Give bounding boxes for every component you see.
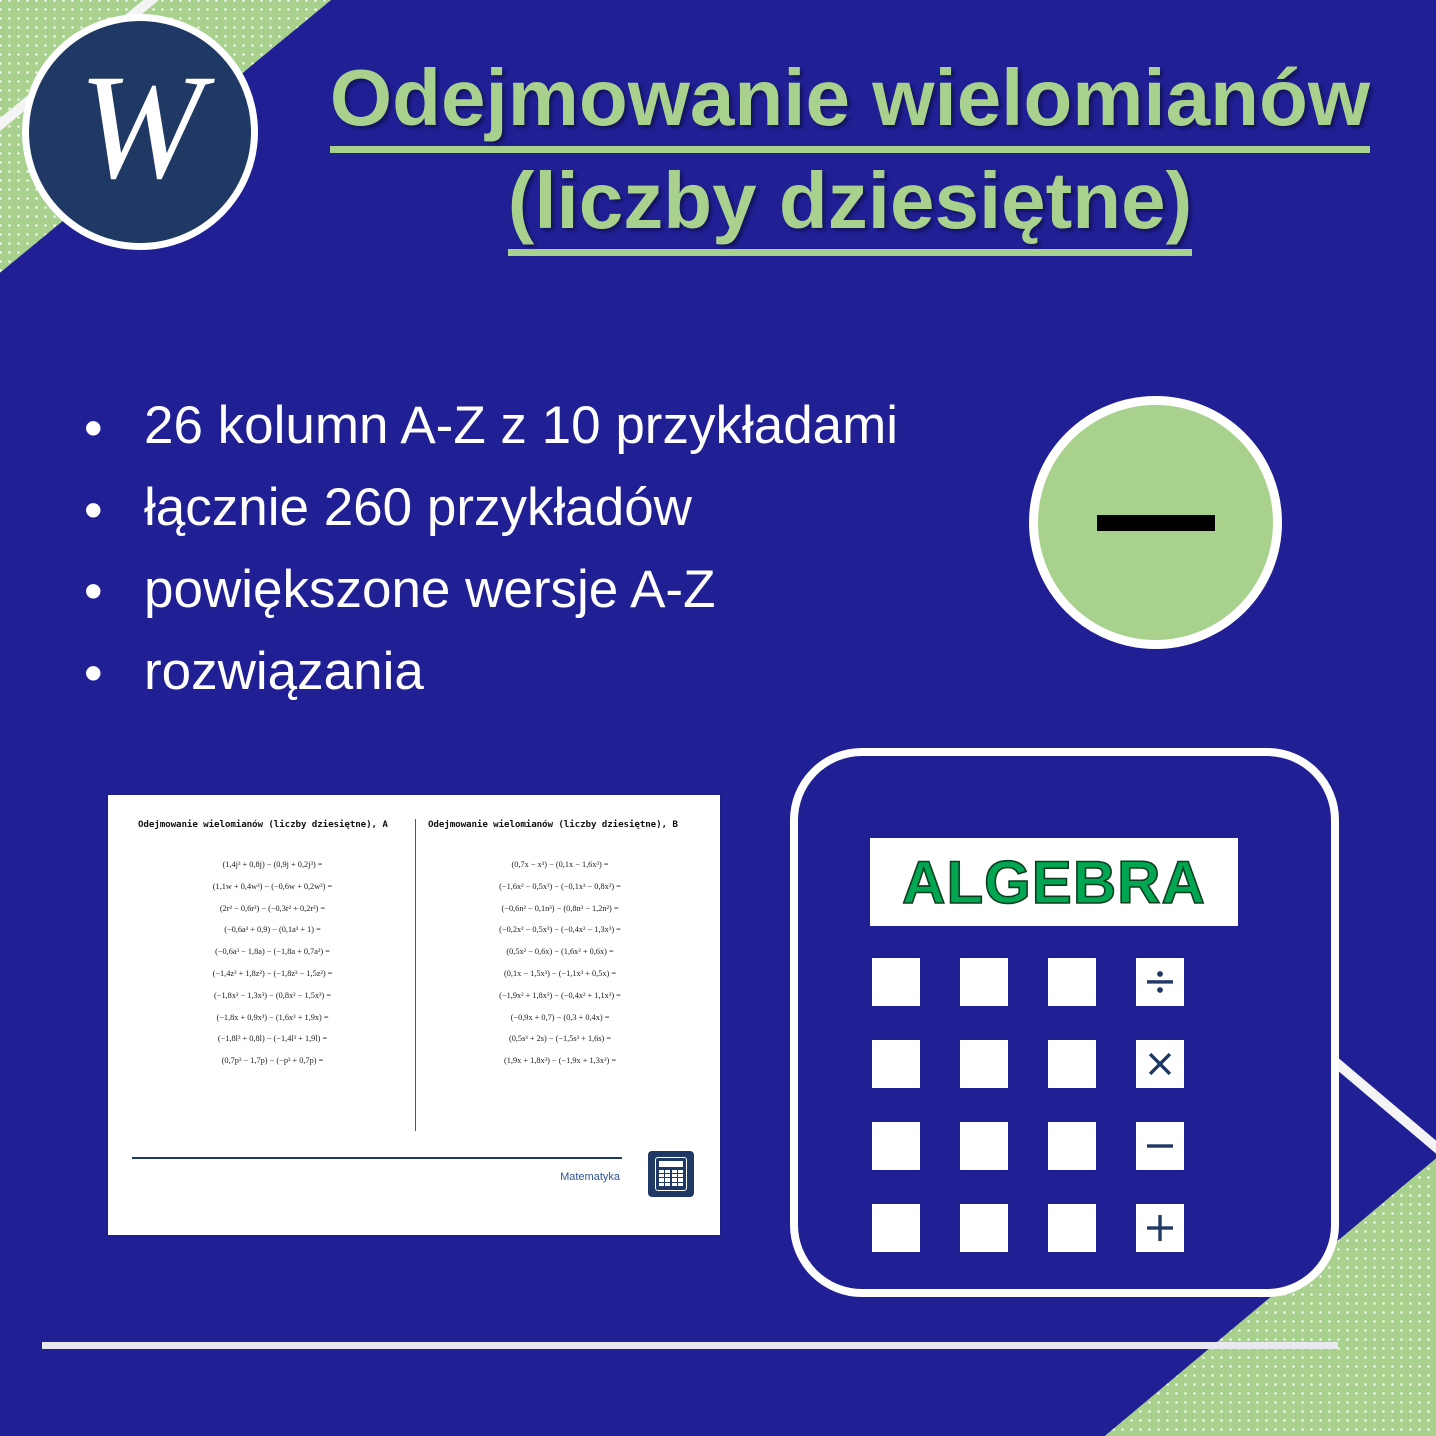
worksheet-equation: (0,5x² − 0,6x) − (1,6x² + 0,6x) = bbox=[428, 947, 692, 956]
calculator-blank-key bbox=[1048, 1040, 1096, 1088]
worksheet-column-a: Odejmowanie wielomianów (liczby dziesięt… bbox=[130, 819, 415, 1131]
worksheet-equation: (0,1x − 1,5x³) − (−1,1x³ + 0,5x) = bbox=[428, 969, 692, 978]
worksheet-footer-label: Matematyka bbox=[560, 1171, 620, 1183]
worksheet-equation: (−1,9x² + 1,8x³) − (−0,4x² + 1,1x³) = bbox=[428, 991, 692, 1000]
calculator-blank-key bbox=[1048, 1204, 1096, 1252]
brand-logo: W bbox=[22, 14, 258, 250]
list-item-label: łącznie 260 przykładów bbox=[144, 478, 692, 537]
calculator-blank-key bbox=[872, 1040, 920, 1088]
list-item-label: rozwiązania bbox=[144, 642, 424, 701]
list-item: • 26 kolumn A-Z z 10 przykładami bbox=[72, 392, 902, 461]
calculator-graphic: ALGEBRA bbox=[790, 748, 1339, 1297]
worksheet-footer: Matematyka bbox=[130, 1149, 700, 1203]
worksheet-equation: (0,5s³ + 2s) − (−1,5s³ + 1,6s) = bbox=[428, 1034, 692, 1043]
calculator-blank-key bbox=[872, 958, 920, 1006]
calculator-blank-key bbox=[872, 1122, 920, 1170]
worksheet-equation: (−0,2x² − 0,5x³) − (−0,4x² − 1,3x³) = bbox=[428, 925, 692, 934]
worksheet-preview: Odejmowanie wielomianów (liczby dziesięt… bbox=[108, 795, 720, 1235]
feature-list: • 26 kolumn A-Z z 10 przykładami • łączn… bbox=[72, 392, 902, 720]
calculator-blank-key bbox=[872, 1204, 920, 1252]
worksheet-equation: (1,4j³ + 0,8j) − (0,9j + 0,2j³) = bbox=[138, 860, 407, 869]
worksheet-equation: (2r² − 0,6r³) − (−0,3r² + 0,2r³) = bbox=[138, 904, 407, 913]
logo-letter: W bbox=[79, 52, 202, 202]
minus-icon bbox=[1097, 515, 1215, 531]
worksheet-equation: (0,7p³ − 1,7p) − (−p³ + 0,7p) = bbox=[138, 1056, 407, 1065]
worksheet-column-b-title: Odejmowanie wielomianów (liczby dziesięt… bbox=[428, 819, 692, 830]
worksheet-equation: (−1,4z³ + 1,8z²) − (−1,8z³ − 1,5z²) = bbox=[138, 969, 407, 978]
list-item: • łącznie 260 przykładów bbox=[72, 474, 902, 543]
calculator-display: ALGEBRA bbox=[870, 838, 1238, 926]
calculator-blank-key bbox=[960, 1204, 1008, 1252]
bullet-marker: • bbox=[84, 477, 103, 546]
worksheet-equation: (−0,6n² − 0,1n³) − (0,8n³ − 1,2n²) = bbox=[428, 904, 692, 913]
calculator-blank-key bbox=[960, 1122, 1008, 1170]
worksheet-equation: (−1,8x² − 1,3x³) − (0,8x² − 1,5x³) = bbox=[138, 991, 407, 1000]
bottom-divider bbox=[42, 1342, 1338, 1349]
calculator-blank-key bbox=[1048, 958, 1096, 1006]
bullet-marker: • bbox=[84, 640, 103, 709]
worksheet-equation: (1,1w + 0,4w³) − (−0,6w + 0,2w³) = bbox=[138, 882, 407, 891]
calculator-icon bbox=[648, 1151, 694, 1197]
calculator-blank-key bbox=[960, 1040, 1008, 1088]
bullet-marker: • bbox=[84, 395, 103, 464]
worksheet-equation: (1,9x + 1,8x³) − (−1,9x + 1,3x³) = bbox=[428, 1056, 692, 1065]
calculator-blank-key bbox=[1048, 1122, 1096, 1170]
worksheet-equation: (−1,6x² − 0,5x³) − (−0,1x³ − 0,8x²) = bbox=[428, 882, 692, 891]
list-item-label: powiększone wersje A-Z bbox=[144, 560, 715, 619]
worksheet-equation: (−0,6a³ + 0,9) − (0,1a³ + 1) = bbox=[138, 925, 407, 934]
calculator-blank-key bbox=[960, 958, 1008, 1006]
list-item-label: 26 kolumn A-Z z 10 przykładami bbox=[144, 396, 898, 455]
title-line-2: (liczby dziesiętne) bbox=[508, 153, 1193, 256]
calculator-display-text: ALGEBRA bbox=[902, 848, 1206, 917]
plus-icon bbox=[1136, 1204, 1184, 1252]
bullet-marker: • bbox=[84, 558, 103, 627]
divide-icon bbox=[1136, 958, 1184, 1006]
poster-canvas: W Odejmowanie wielomianów (liczby dziesi… bbox=[0, 0, 1436, 1436]
list-item: • powiększone wersje A-Z bbox=[72, 556, 902, 625]
worksheet-column-a-title: Odejmowanie wielomianów (liczby dziesięt… bbox=[138, 819, 407, 830]
worksheet-equation: (−1,8x + 0,9x³) − (1,6x³ + 1,9x) = bbox=[138, 1013, 407, 1022]
worksheet-equation: (−0,6a³ − 1,8a) − (−1,8a + 0,7a³) = bbox=[138, 947, 407, 956]
calculator-keypad bbox=[872, 958, 1272, 1252]
title-line-1: Odejmowanie wielomianów bbox=[330, 50, 1370, 153]
worksheet-equation: (−0,9x + 0,7) − (0,3 + 0,4x) = bbox=[428, 1013, 692, 1022]
multiply-icon bbox=[1136, 1040, 1184, 1088]
page-title: Odejmowanie wielomianów (liczby dziesięt… bbox=[290, 50, 1410, 256]
minus-icon-badge bbox=[1029, 396, 1282, 649]
worksheet-footer-rule bbox=[132, 1157, 622, 1159]
list-item: • rozwiązania bbox=[72, 638, 902, 707]
worksheet-column-b: Odejmowanie wielomianów (liczby dziesięt… bbox=[415, 819, 700, 1131]
minus-icon bbox=[1136, 1122, 1184, 1170]
worksheet-equation: (−1,8l³ + 0,8l) − (−1,4l³ + 1,9l) = bbox=[138, 1034, 407, 1043]
worksheet-equation: (0,7x − x³) − (0,1x − 1,6x³) = bbox=[428, 860, 692, 869]
